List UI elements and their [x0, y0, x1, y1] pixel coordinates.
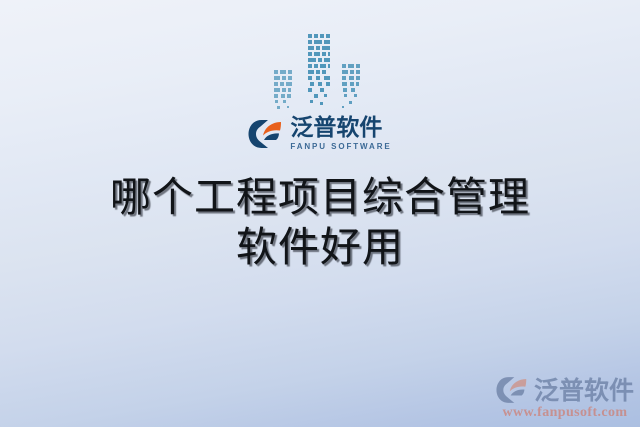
logo-row: 泛普软件 FANPU SOFTWARE — [248, 116, 391, 151]
watermark-logo-row: 泛普软件 — [496, 376, 634, 404]
fanpu-logo-mark — [248, 119, 284, 149]
logo-name-en: FANPU SOFTWARE — [290, 143, 391, 151]
headline: 哪个工程项目综合管理 软件好用 — [0, 172, 640, 272]
watermark: 泛普软件 www.fanpusoft.com — [496, 376, 634, 421]
headline-line-1: 哪个工程项目综合管理 — [0, 172, 640, 222]
slide-canvas: 泛普软件 FANPU SOFTWARE 哪个工程项目综合管理 软件好用 泛普软件… — [0, 0, 640, 427]
logo-name-cn: 泛普软件 — [290, 116, 382, 140]
watermark-url: www.fanpusoft.com — [502, 405, 627, 421]
brand-block: 泛普软件 FANPU SOFTWARE — [0, 30, 640, 151]
logo-wordmark: 泛普软件 FANPU SOFTWARE — [290, 116, 391, 151]
pixel-skyline-icon — [264, 30, 376, 114]
fanpu-logo-mark-watermark — [496, 376, 529, 404]
headline-line-2: 软件好用 — [0, 222, 640, 272]
watermark-name-cn: 泛普软件 — [534, 378, 634, 403]
